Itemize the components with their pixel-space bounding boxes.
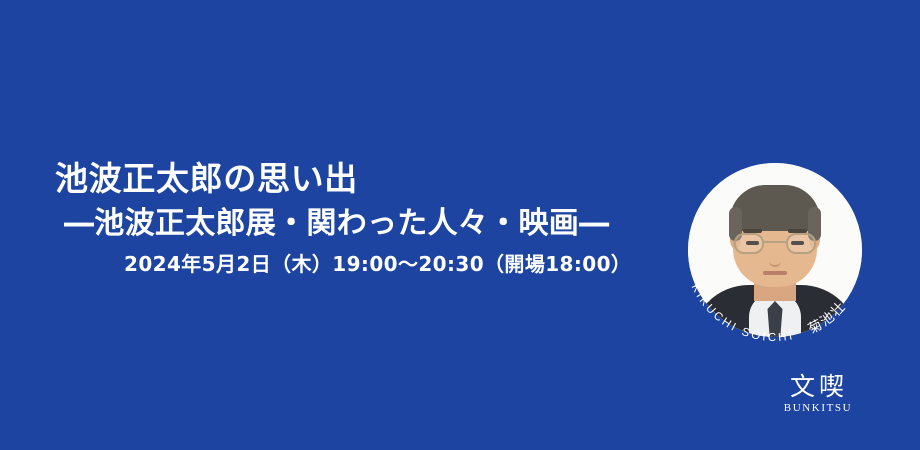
event-text-block: 池波正太郎の思い出 ―池波正太郎展・関わった人々・映画― 2024年5月2日（木…: [0, 158, 660, 277]
glasses-bridge: [764, 241, 786, 243]
speaker-photo-circle: [688, 163, 862, 337]
event-title: 池波正太郎の思い出: [0, 158, 660, 200]
event-datetime: 2024年5月2日（木）19:00〜20:30（開場18:00）: [0, 251, 660, 277]
portrait-hair: [730, 185, 820, 231]
portrait-nose: [769, 251, 781, 267]
glasses-lens-right: [786, 233, 816, 254]
event-subtitle: ―池波正太郎展・関わった人々・映画―: [0, 204, 660, 243]
portrait-illustration: [688, 163, 862, 337]
brand-logo-wordmark: BUNKITSU: [762, 403, 872, 414]
speaker-portrait: KIKUCHI SOICHI 菊池壮一: [688, 163, 862, 337]
brand-logo-mark: 文喫: [762, 374, 872, 399]
brand-logo: 文喫 BUNKITSU: [762, 374, 872, 414]
glasses-lens-left: [734, 233, 764, 254]
event-banner: 池波正太郎の思い出 ―池波正太郎展・関わった人々・映画― 2024年5月2日（木…: [0, 0, 920, 450]
portrait-mouth: [763, 271, 787, 275]
